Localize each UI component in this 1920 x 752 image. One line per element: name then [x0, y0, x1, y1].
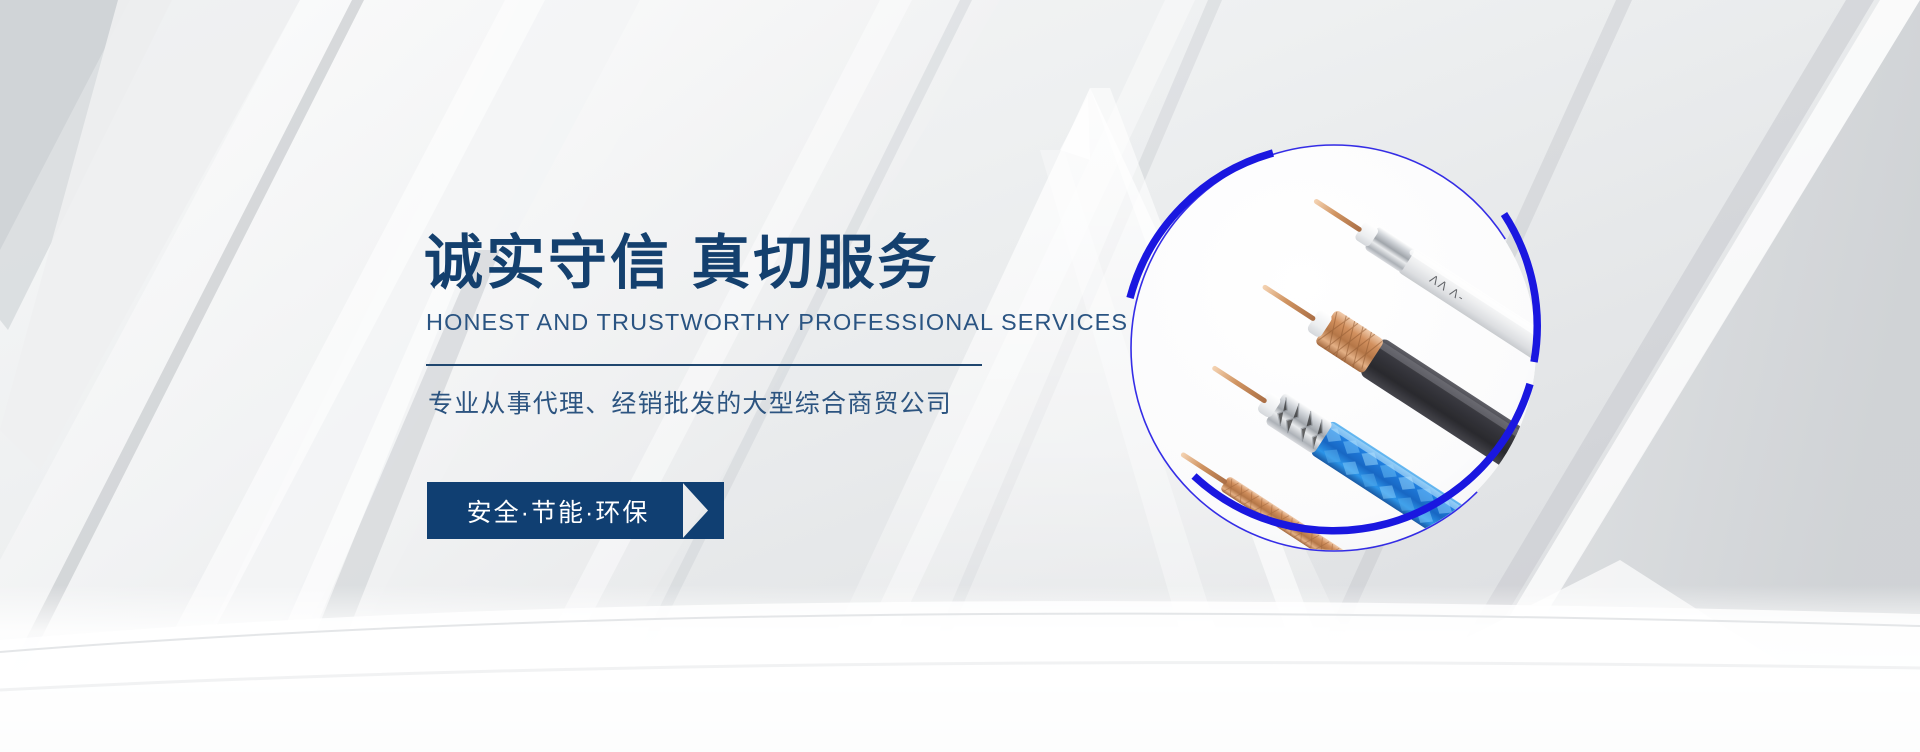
page-title: 诚实守信 真切服务	[424, 232, 1044, 295]
circle-outline-icon	[1118, 132, 1550, 564]
subtitle-english: HONEST AND TRUSTWORTHY PROFESSIONAL SERV…	[426, 309, 1044, 336]
tagline-chinese: 专业从事代理、经销批发的大型综合商贸公司	[428, 384, 1044, 420]
product-showcase: ΛΛ Λ-	[1118, 132, 1550, 564]
ribbon-notch-icon	[682, 482, 724, 539]
feature-ribbon: 安全·节能·环保	[427, 482, 724, 539]
divider-line	[426, 364, 982, 366]
ribbon-label: 安全·节能·环保	[427, 482, 683, 539]
hero-banner: 诚实守信 真切服务 HONEST AND TRUSTWORTHY PROFESS…	[0, 0, 1920, 752]
hero-text-block: 诚实守信 真切服务 HONEST AND TRUSTWORTHY PROFESS…	[424, 232, 1044, 420]
